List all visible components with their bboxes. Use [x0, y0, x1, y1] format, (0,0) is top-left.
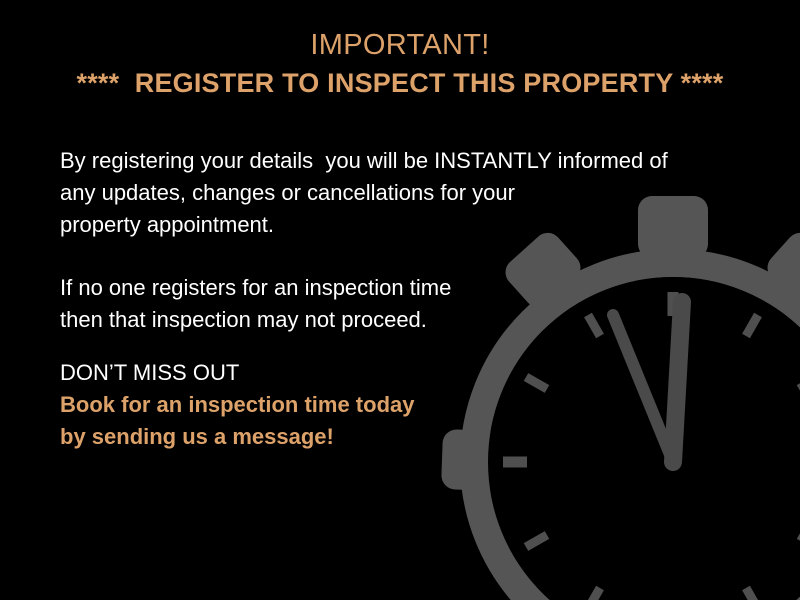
cta-send-message: by sending us a message!: [60, 421, 760, 453]
paragraph-line: any updates, changes or cancellations fo…: [60, 177, 760, 209]
paragraph-registering-benefits: By registering your details you will be …: [60, 145, 760, 241]
slide-heading: IMPORTANT! **** REGISTER TO INSPECT THIS…: [0, 26, 800, 102]
paragraph-call-to-action: DON’T MISS OUT Book for an inspection ti…: [60, 357, 760, 453]
slide-text-layer: IMPORTANT! **** REGISTER TO INSPECT THIS…: [0, 0, 800, 600]
heading-important: IMPORTANT!: [0, 26, 800, 64]
cta-book-inspection: Book for an inspection time today: [60, 389, 760, 421]
promo-slide: IMPORTANT! **** REGISTER TO INSPECT THIS…: [0, 0, 800, 600]
cta-dont-miss-out: DON’T MISS OUT: [60, 357, 760, 389]
paragraph-line: property appointment.: [60, 209, 760, 241]
heading-register-call: **** REGISTER TO INSPECT THIS PROPERTY *…: [0, 64, 800, 102]
paragraph-no-registration-warning: If no one registers for an inspection ti…: [60, 272, 760, 336]
paragraph-line: If no one registers for an inspection ti…: [60, 272, 760, 304]
paragraph-line: By registering your details you will be …: [60, 145, 760, 177]
paragraph-line: then that inspection may not proceed.: [60, 304, 760, 336]
